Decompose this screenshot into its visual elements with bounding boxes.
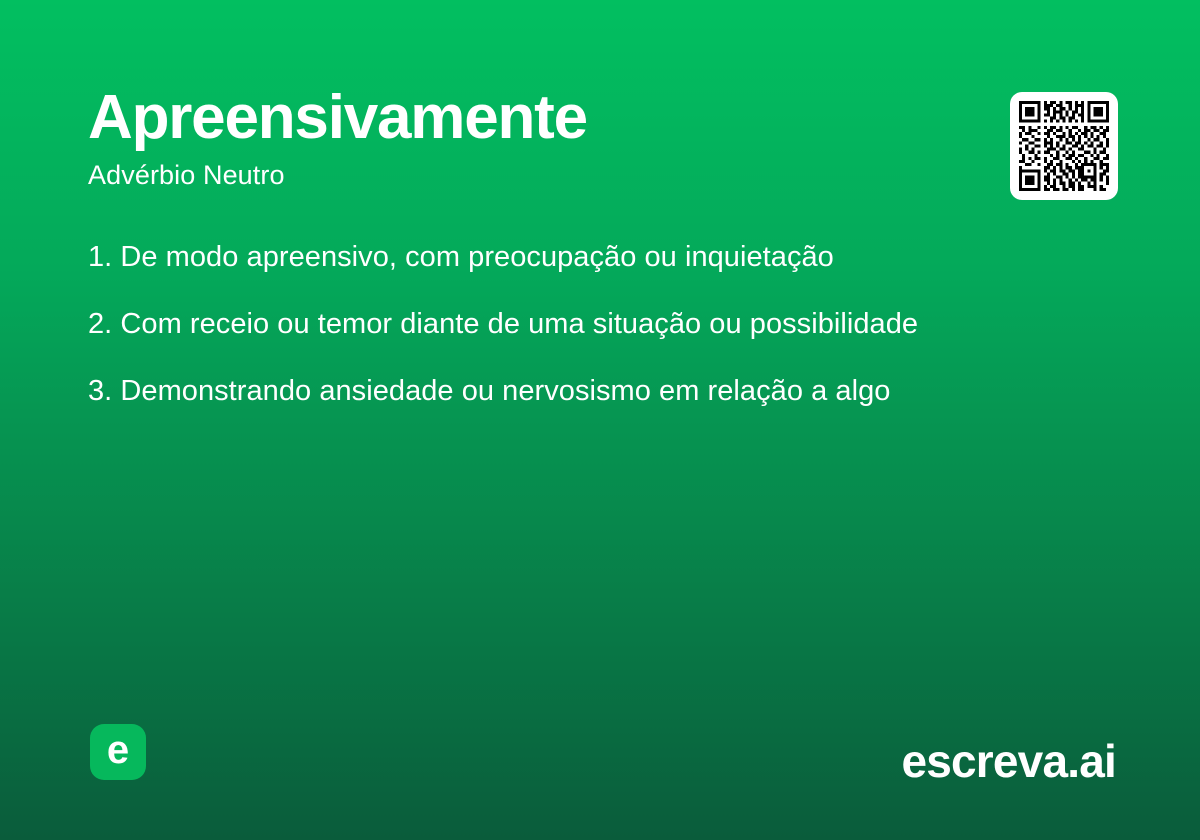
page-title: Apreensivamente bbox=[88, 86, 968, 149]
brand-wordmark: escreva.ai bbox=[901, 738, 1116, 784]
definition-item-1: 1. De modo apreensivo, com preocupação o… bbox=[88, 243, 1130, 272]
definition-item-2: 2. Com receio ou temor diante de uma sit… bbox=[88, 310, 1130, 339]
qr-code-icon[interactable] bbox=[1010, 92, 1118, 200]
qr-code-svg bbox=[1019, 101, 1109, 191]
escreva-logo-icon: e bbox=[90, 724, 146, 780]
logo-letter: e bbox=[107, 730, 129, 770]
card-header: Apreensivamente Advérbio Neutro bbox=[88, 86, 968, 192]
word-card: Apreensivamente Advérbio Neutro bbox=[0, 0, 1200, 840]
definition-list: 1. De modo apreensivo, com preocupação o… bbox=[88, 243, 1130, 406]
grammar-class-label: Advérbio Neutro bbox=[88, 159, 968, 191]
definition-item-3: 3. Demonstrando ansiedade ou nervosismo … bbox=[88, 377, 1130, 406]
